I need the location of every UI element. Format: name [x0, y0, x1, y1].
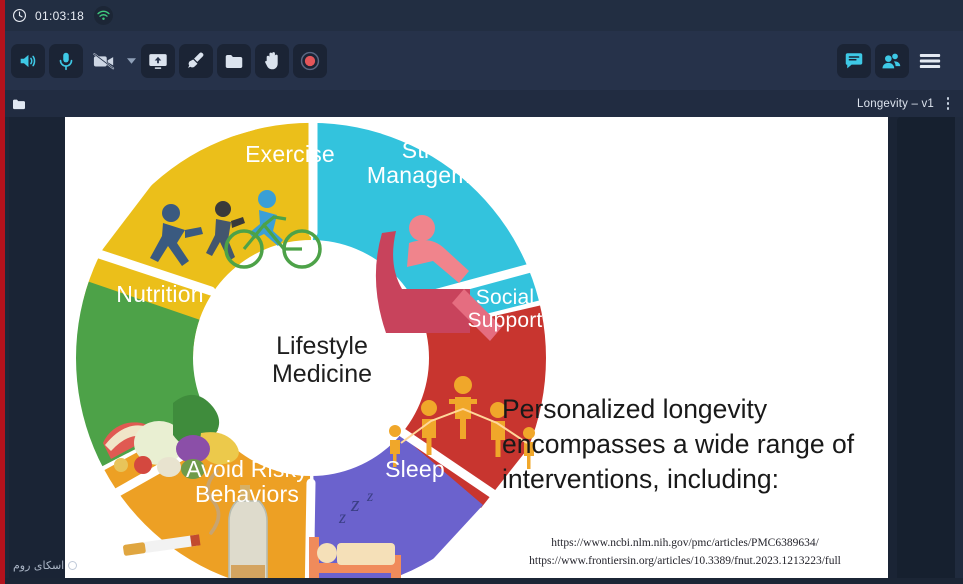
network-signal-icon [94, 6, 113, 25]
skyroom-watermark: اسکای روم [13, 559, 77, 572]
center-label-line2: Medicine [207, 360, 437, 388]
slide-content: z z z [65, 117, 888, 584]
source-link-1: https://www.ncbi.nlm.nih.gov/pmc/article… [485, 535, 885, 553]
share-screen-button[interactable] [141, 44, 175, 78]
speaker-button[interactable] [11, 44, 45, 78]
meeting-window: 01:03:18 [0, 0, 963, 584]
center-label-line1: Lifestyle [207, 332, 437, 360]
status-bar: 01:03:18 [0, 0, 963, 31]
watermark-text: اسکای روم [13, 559, 64, 572]
svg-text:z: z [366, 488, 374, 505]
microphone-button[interactable] [49, 44, 83, 78]
files-button[interactable] [217, 44, 251, 78]
whiteboard-button[interactable] [179, 44, 213, 78]
raise-hand-button[interactable] [255, 44, 289, 78]
recording-edge-indicator [0, 0, 5, 584]
menu-button[interactable] [913, 44, 947, 78]
session-timer: 01:03:18 [35, 9, 84, 23]
slide-sources: https://www.ncbi.nlm.nih.gov/pmc/article… [485, 535, 885, 571]
camera-button[interactable] [87, 44, 121, 78]
stage-far-right-gutter [955, 117, 963, 584]
toolbar-left-group [0, 44, 327, 78]
participants-button[interactable] [875, 44, 909, 78]
presentation-stage: z z z [9, 117, 955, 584]
content-tab-bar: Longevity – v1 [0, 90, 963, 117]
active-tab-title[interactable]: Longevity – v1 [852, 96, 939, 112]
tab-right-group: Longevity – v1 [852, 94, 963, 114]
toolbar-right-group [837, 44, 963, 78]
copyright-icon [68, 561, 77, 570]
slide-canvas[interactable]: z z z [65, 117, 888, 584]
folder-icon[interactable] [11, 96, 27, 112]
camera-options-caret[interactable] [125, 46, 137, 76]
stage-right-panel [897, 117, 955, 584]
meeting-toolbar [0, 31, 963, 90]
record-button[interactable] [293, 44, 327, 78]
window-bottom-edge [0, 578, 963, 584]
svg-text:z: z [350, 491, 360, 516]
kebab-menu-icon[interactable] [941, 94, 955, 114]
slide-body-text: Personalized longevity encompasses a wid… [502, 392, 872, 498]
source-link-2: https://www.frontiersin.org/articles/10.… [485, 553, 885, 571]
clock-icon [12, 8, 27, 23]
svg-text:z: z [338, 507, 346, 527]
chat-button[interactable] [837, 44, 871, 78]
donut-center-label: Lifestyle Medicine [207, 332, 437, 388]
